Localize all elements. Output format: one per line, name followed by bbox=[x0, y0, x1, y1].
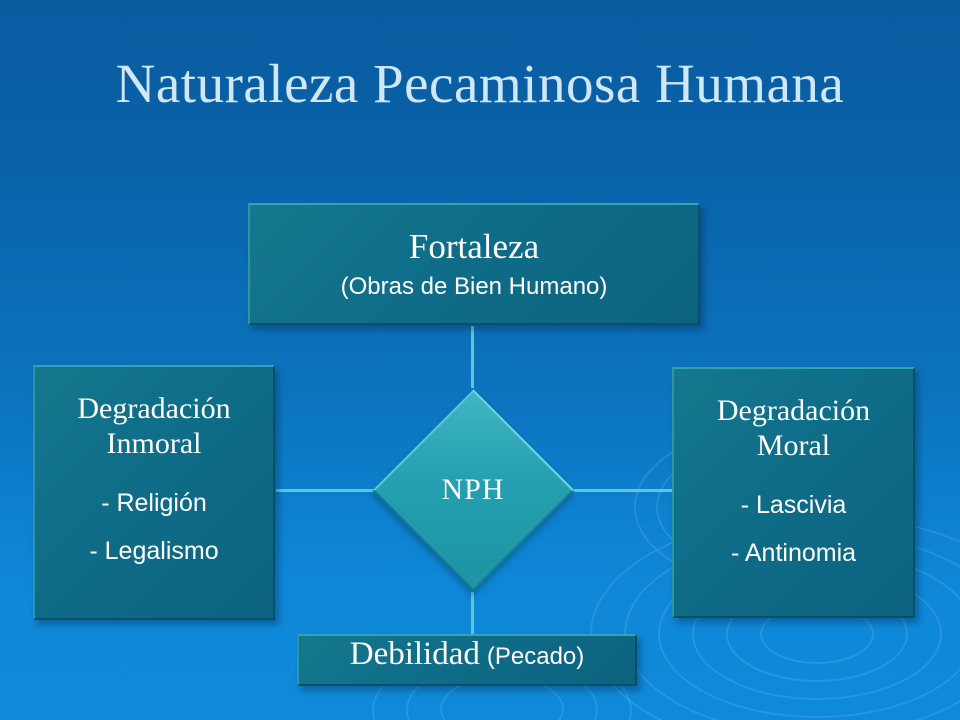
slide-title: Naturaleza Pecaminosa Humana bbox=[0, 52, 960, 116]
node-debilidad-subtitle: (Pecado) bbox=[487, 642, 584, 672]
node-degradacion-moral-heading-line2: Moral bbox=[757, 428, 830, 463]
list-item: - Antinomia bbox=[674, 529, 913, 577]
node-degradacion-inmoral-heading-line1: Degradación bbox=[77, 391, 230, 426]
node-degradacion-inmoral-bullet-list: - Religión - Legalismo bbox=[35, 479, 273, 575]
connector-left-to-center bbox=[276, 489, 373, 492]
node-fortaleza-heading: Fortaleza bbox=[409, 226, 539, 268]
connector-center-to-bottom bbox=[471, 592, 474, 634]
list-item: - Religión bbox=[35, 479, 273, 527]
node-nph-label: NPH bbox=[372, 389, 574, 591]
node-degradacion-moral-heading-line1: Degradación bbox=[717, 393, 870, 428]
list-item: - Legalismo bbox=[35, 527, 273, 575]
node-nph-diamond[interactable]: NPH bbox=[372, 389, 574, 591]
connector-top-to-center bbox=[471, 326, 474, 388]
node-degradacion-inmoral[interactable]: Degradación Inmoral - Religión - Legalis… bbox=[33, 365, 275, 620]
node-degradacion-moral[interactable]: Degradación Moral - Lascivia - Antinomia bbox=[672, 367, 915, 618]
node-debilidad-heading: Debilidad bbox=[350, 636, 480, 672]
node-degradacion-inmoral-heading-line2: Inmoral bbox=[107, 426, 202, 461]
node-debilidad[interactable]: Debilidad (Pecado) bbox=[297, 634, 637, 686]
node-fortaleza[interactable]: Fortaleza (Obras de Bien Humano) bbox=[248, 203, 700, 325]
slide-canvas: Naturaleza Pecaminosa Humana Fortaleza (… bbox=[0, 0, 960, 720]
node-degradacion-moral-bullet-list: - Lascivia - Antinomia bbox=[674, 481, 913, 577]
list-item: - Lascivia bbox=[674, 481, 913, 529]
node-fortaleza-subtitle: (Obras de Bien Humano) bbox=[341, 272, 608, 302]
connector-center-to-right bbox=[574, 489, 672, 492]
